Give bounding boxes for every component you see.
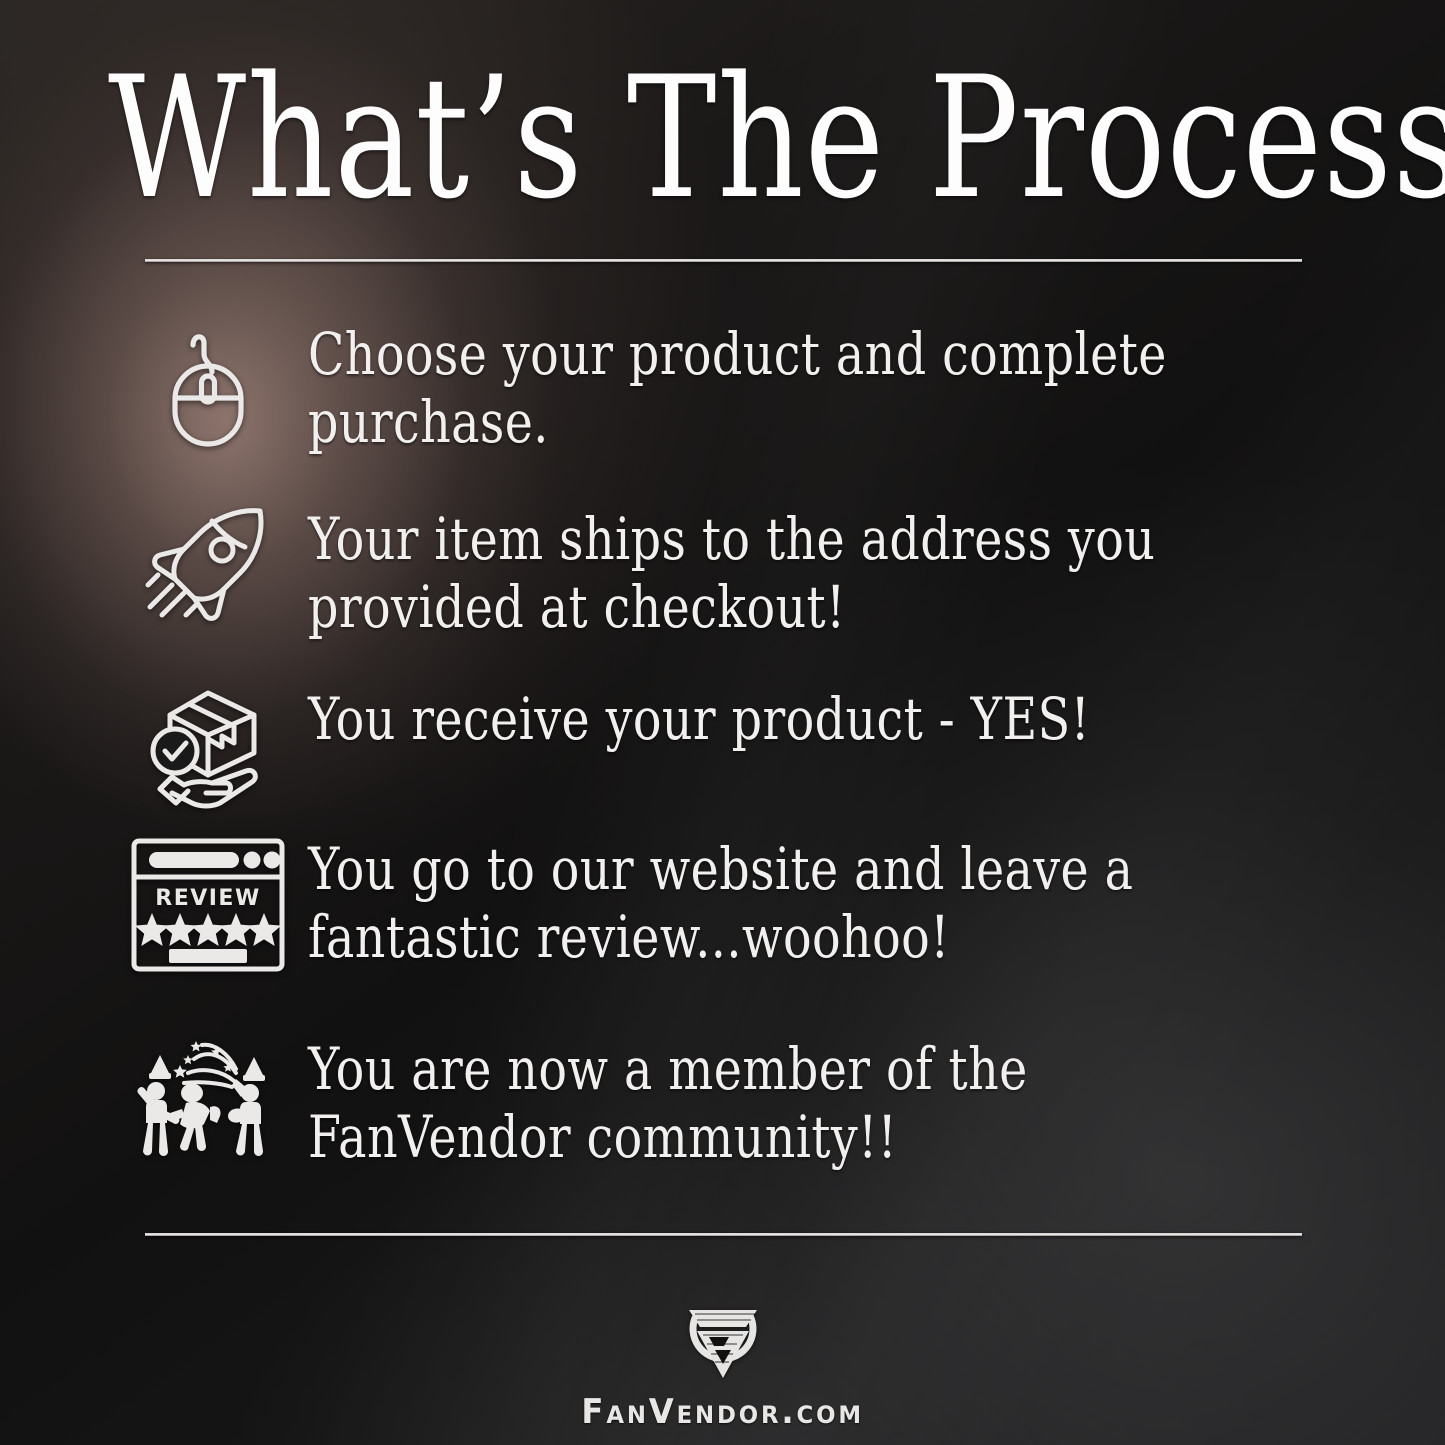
star-rating [135, 913, 281, 946]
list-item-label: You are now a member of the FanVendor co… [308, 1035, 1191, 1172]
list-item-label: You go to our website and leave a fantas… [308, 835, 1191, 972]
footer-branding: FanVendor.com [0, 1290, 1445, 1432]
list-item-label: Your item ships to the address you provi… [308, 505, 1191, 642]
list-item: You receive your product - YES! [108, 685, 1385, 809]
list-item: REVIEW You go to our website and leave a… [108, 835, 1385, 975]
fanvendor-shield-fv-logo-icon [675, 1290, 771, 1386]
computer-mouse-icon [108, 320, 308, 450]
divider-top [145, 259, 1302, 262]
divider-bottom [145, 1233, 1302, 1236]
celebration-people-confetti-icon [108, 1035, 308, 1165]
hand-holding-package-check-icon [108, 685, 308, 809]
browser-review-stars-icon: REVIEW [108, 835, 308, 975]
list-item-label: Choose your product and complete purchas… [308, 320, 1191, 457]
list-item: You are now a member of the FanVendor co… [108, 1035, 1385, 1172]
review-label: REVIEW [155, 886, 260, 911]
list-item: Your item ships to the address you provi… [108, 505, 1385, 642]
page-title: What’s The Process [108, 54, 1116, 222]
rocket-icon [108, 505, 308, 625]
process-infographic-poster: What’s The Process Choose your product a… [0, 0, 1445, 1445]
list-item-label: You receive your product - YES! [308, 685, 1191, 753]
list-item: Choose your product and complete purchas… [108, 320, 1385, 457]
brand-wordmark: FanVendor.com [581, 1392, 863, 1432]
